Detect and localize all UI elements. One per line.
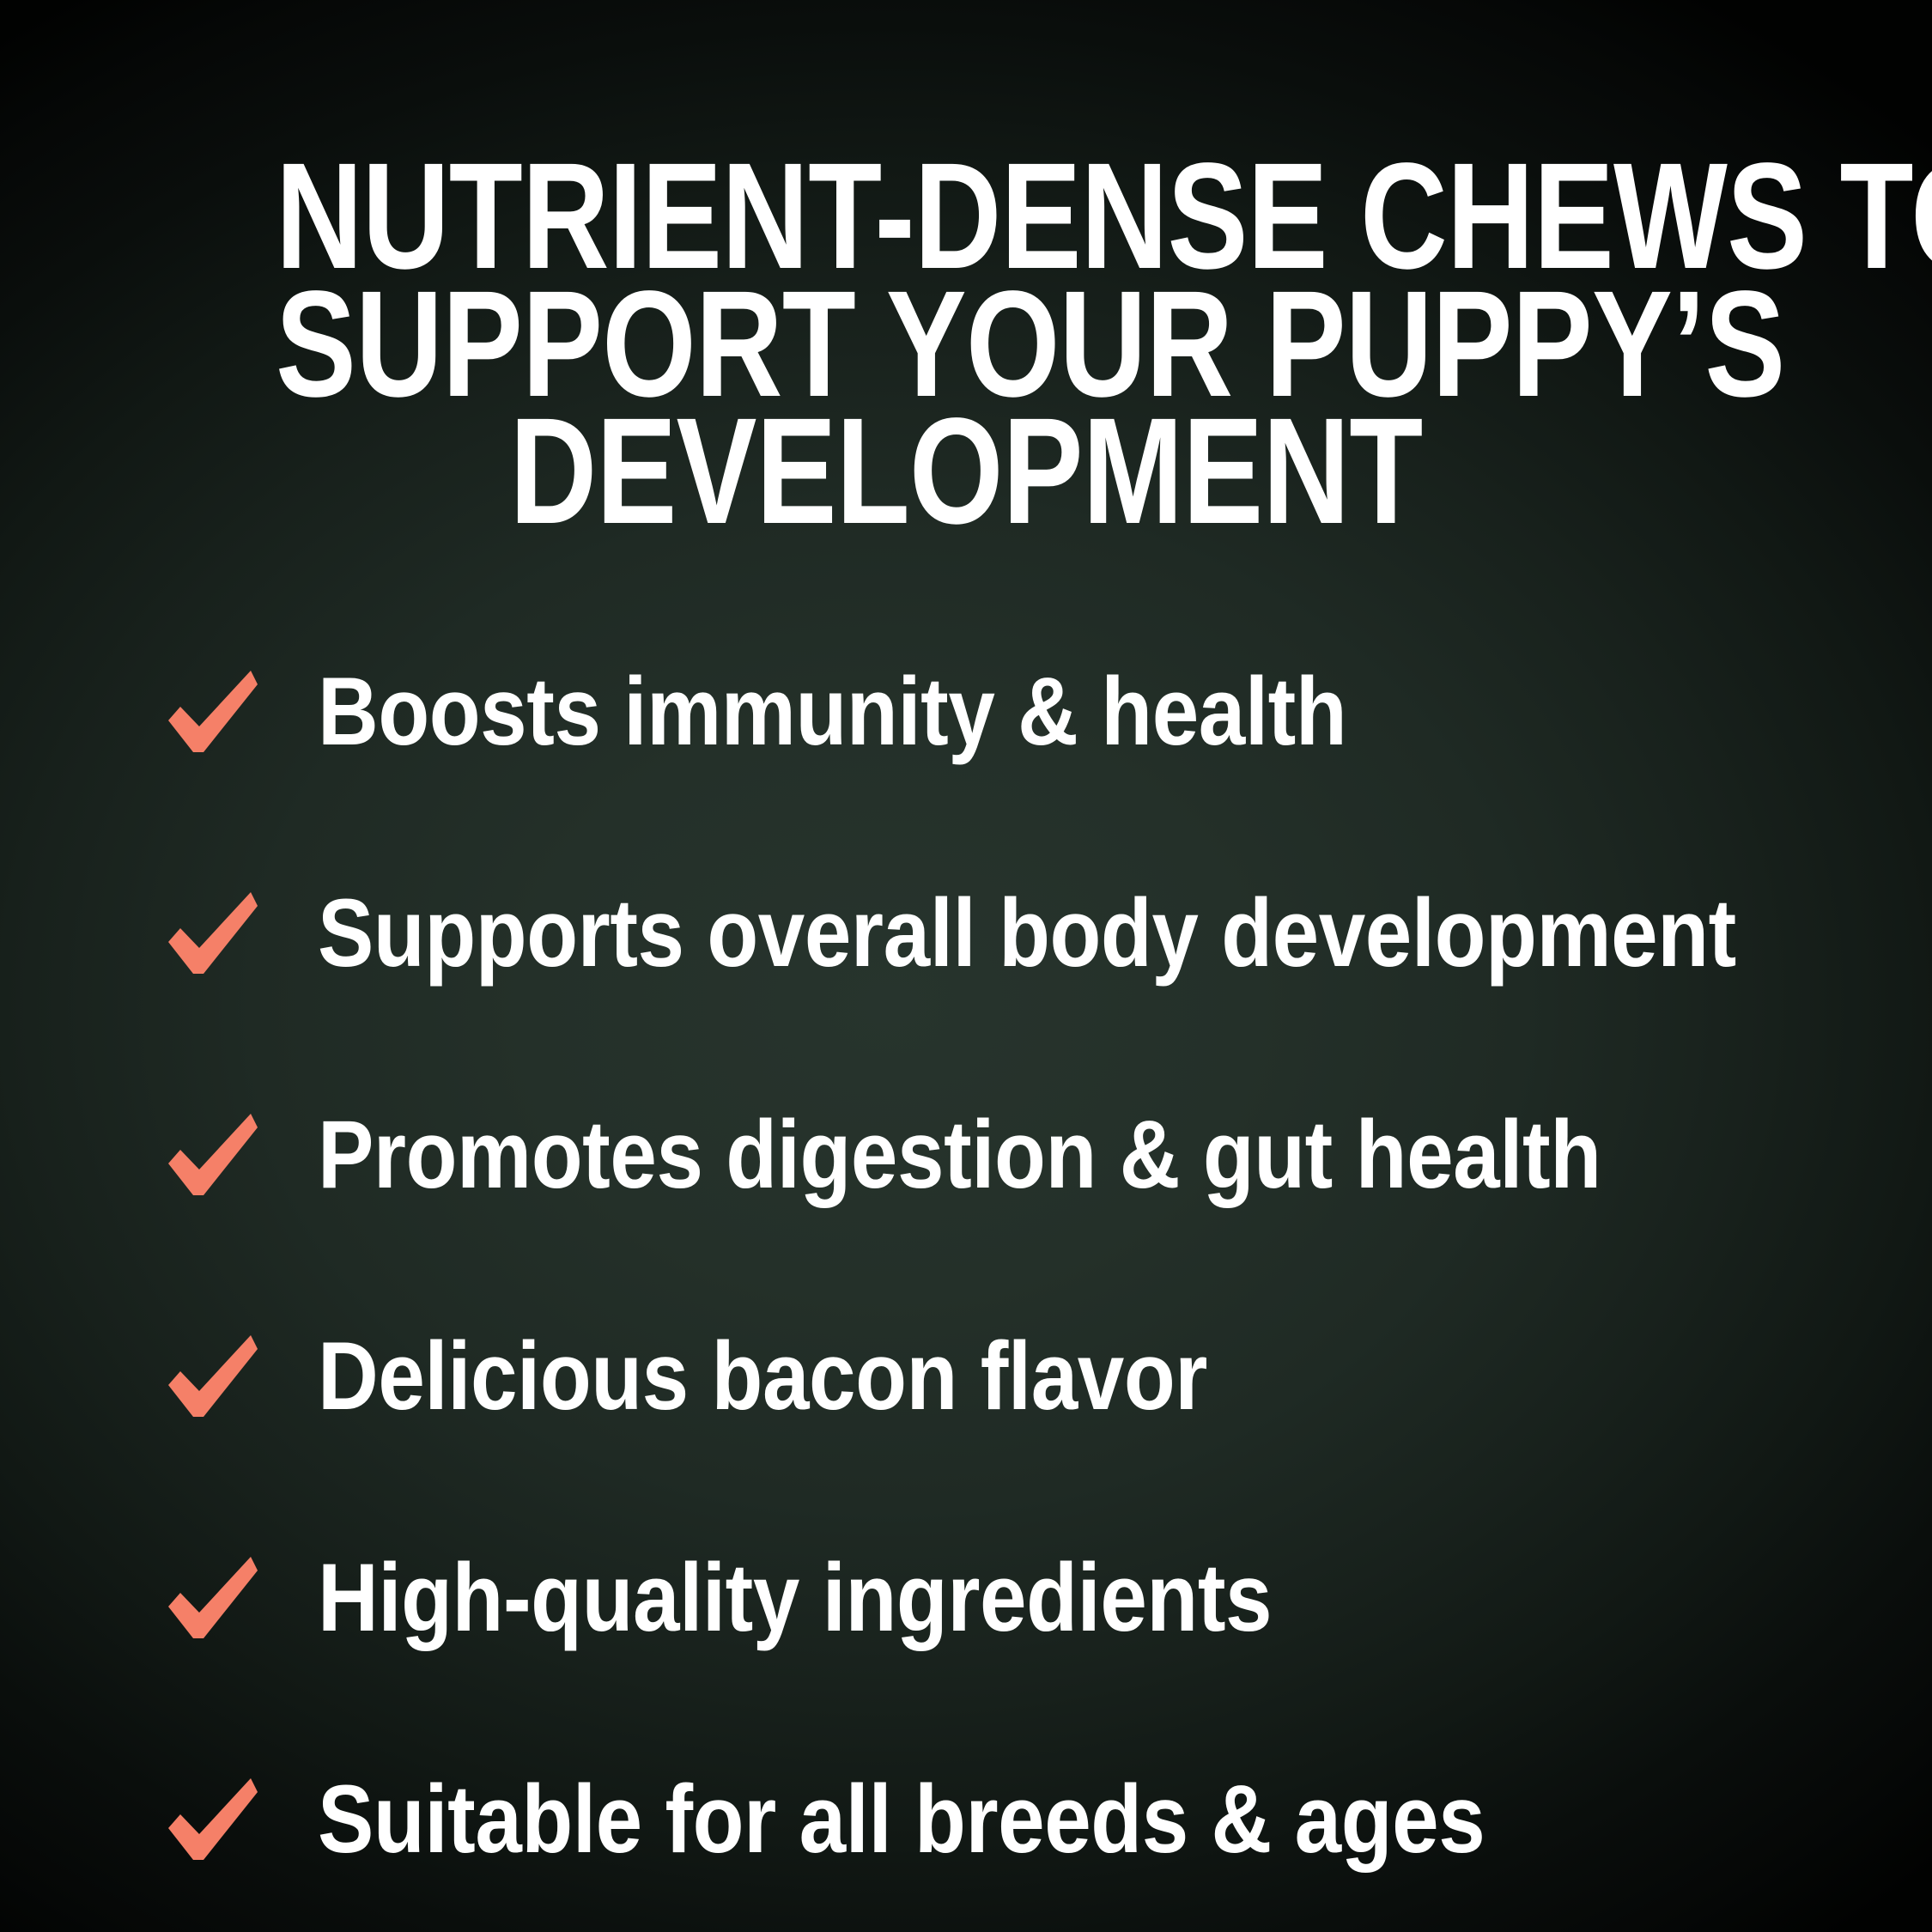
list-item-label: Supports overall body development [318, 885, 1736, 981]
list-item: Promotes digestion & gut health [168, 1044, 1851, 1266]
feature-list: Boosts immunity & health Supports overal… [168, 601, 1851, 1930]
list-item: Suitable for all breeds & ages [168, 1709, 1851, 1930]
list-item: Boosts immunity & health [168, 601, 1851, 823]
headline-line-3: DEVELOPMENT [276, 408, 1656, 536]
check-icon [168, 1332, 258, 1421]
check-icon [168, 1110, 258, 1200]
list-item-label: Suitable for all breeds & ages [318, 1771, 1485, 1868]
page-title: NUTRIENT-DENSE CHEWS TO SUPPORT YOUR PUP… [0, 153, 1932, 536]
list-item: High-quality ingredients [168, 1487, 1851, 1709]
list-item-label: High-quality ingredients [318, 1550, 1272, 1646]
check-icon [168, 667, 258, 756]
check-icon [168, 1553, 258, 1643]
list-item-label: Promotes digestion & gut health [318, 1107, 1601, 1203]
list-item: Supports overall body development [168, 823, 1851, 1044]
list-item-label: Delicious bacon flavor [318, 1328, 1207, 1425]
list-item: Delicious bacon flavor [168, 1266, 1851, 1487]
check-icon [168, 1775, 258, 1864]
check-icon [168, 889, 258, 978]
promo-banner: NUTRIENT-DENSE CHEWS TO SUPPORT YOUR PUP… [0, 0, 1932, 1932]
list-item-label: Boosts immunity & health [318, 664, 1346, 760]
